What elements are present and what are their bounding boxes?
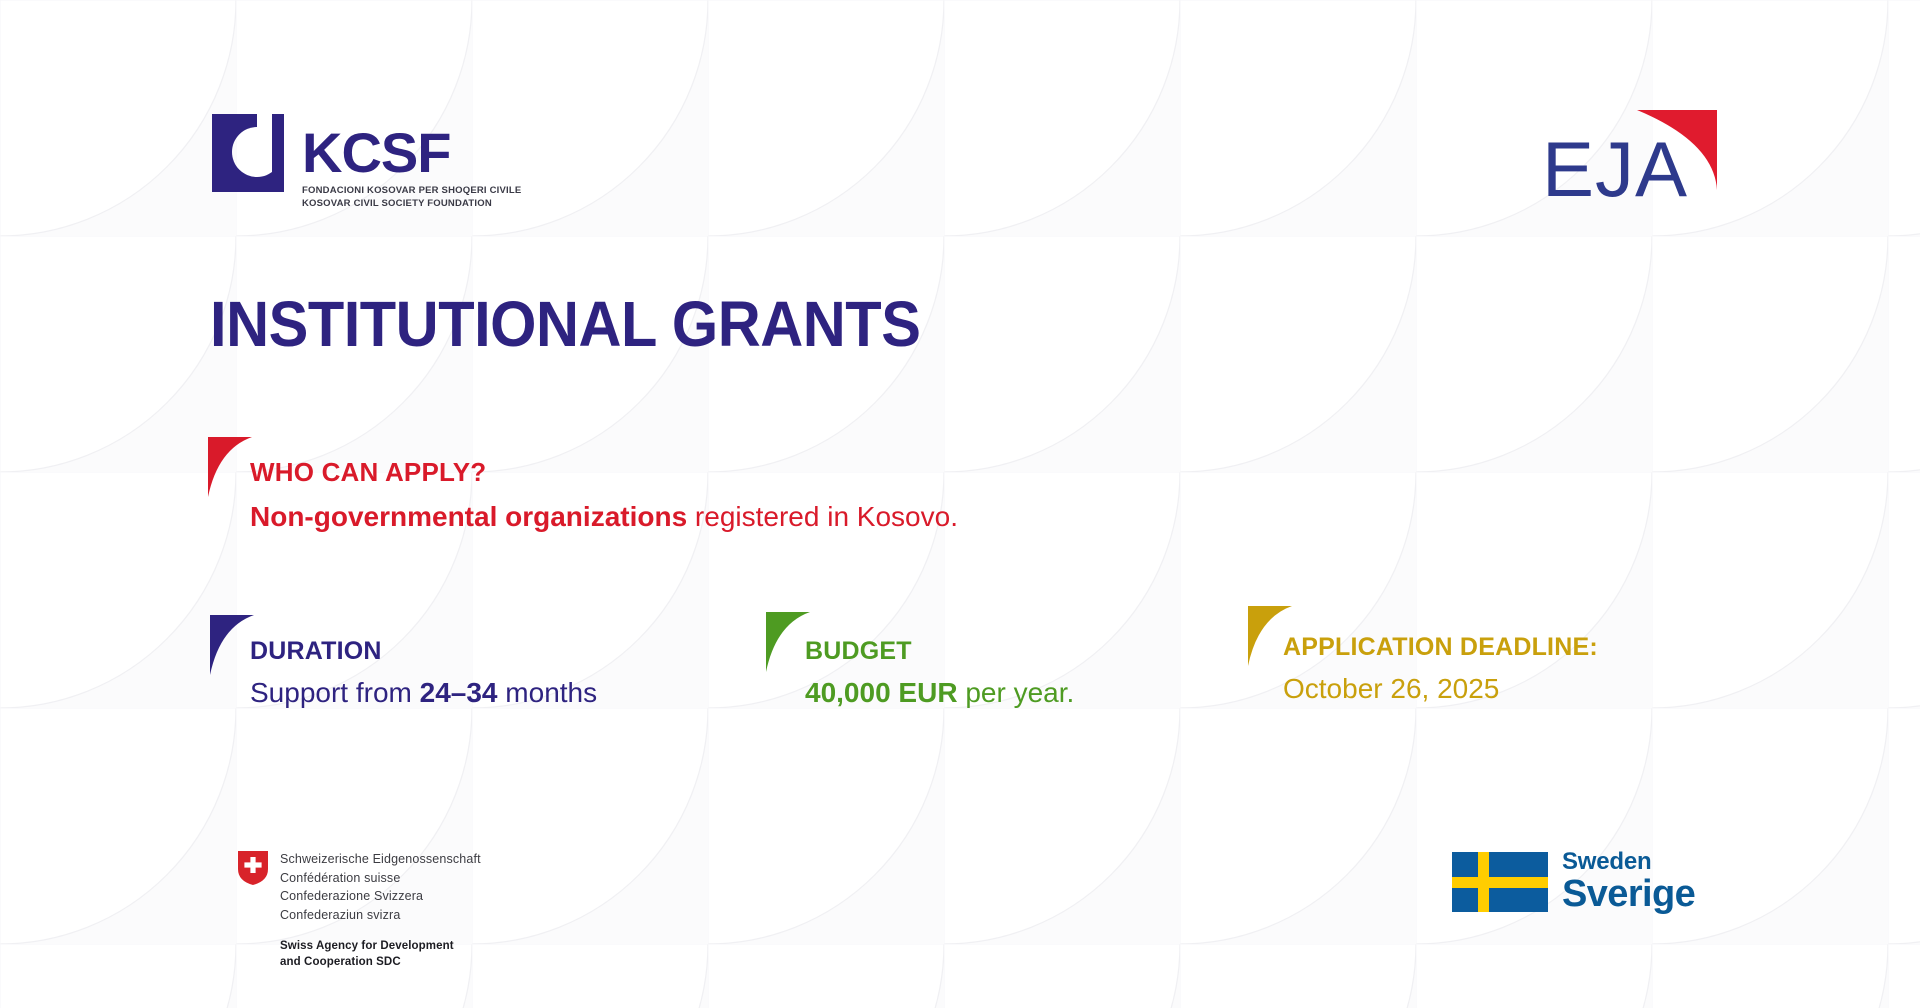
budget-body: 40,000 EUR per year. xyxy=(805,676,1074,710)
swiss-lang-fr: Confédération suisse xyxy=(280,869,481,888)
kcsf-subtitle-line2: KOSOVAR CIVIL SOCIETY FOUNDATION xyxy=(302,198,521,211)
kcsf-subtitle-line1: FONDACIONI KOSOVAR PER SHOQERI CIVILE xyxy=(302,185,521,198)
deadline-heading: APPLICATION DEADLINE: xyxy=(1283,633,1598,662)
budget-heading: BUDGET xyxy=(805,637,1074,666)
who-can-apply-marker-icon xyxy=(208,437,252,497)
who-can-apply-body-bold: Non-governmental organizations xyxy=(250,501,687,532)
page-title: INSTITUTIONAL GRANTS xyxy=(210,292,920,356)
sweden-logo: Sweden Sverige xyxy=(1452,849,1695,915)
who-can-apply-block: WHO CAN APPLY? Non-governmental organiza… xyxy=(250,458,958,533)
who-can-apply-body: Non-governmental organizations registere… xyxy=(250,500,958,534)
swiss-cross-shield-icon xyxy=(238,851,268,885)
kcsf-wordmark: KCSF xyxy=(302,126,521,179)
eja-logo: EJA xyxy=(1542,110,1717,208)
sweden-name-en: Sweden xyxy=(1562,849,1695,874)
budget-marker-icon xyxy=(766,612,810,672)
swiss-agency-line1: Swiss Agency for Development xyxy=(280,938,481,954)
who-can-apply-body-rest: registered in Kosovo. xyxy=(687,501,958,532)
duration-body-prefix: Support from xyxy=(250,677,420,708)
kcsf-circle-square-icon xyxy=(212,114,296,198)
duration-heading: DURATION xyxy=(250,637,597,666)
info-column-duration: DURATION Support from 24–34 months xyxy=(250,637,597,709)
swiss-sdc-logo: Schweizerische Eidgenossenschaft Confédé… xyxy=(238,850,481,971)
who-can-apply-heading: WHO CAN APPLY? xyxy=(250,458,958,488)
sweden-name-sv: Sverige xyxy=(1562,875,1695,915)
swiss-lang-rm: Confederaziun svizra xyxy=(280,906,481,925)
duration-body: Support from 24–34 months xyxy=(250,676,597,710)
deadline-body: October 26, 2025 xyxy=(1283,672,1598,706)
poster-canvas: KCSF FONDACIONI KOSOVAR PER SHOQERI CIVI… xyxy=(0,0,1920,1008)
swiss-agency-line2: and Cooperation SDC xyxy=(280,954,481,970)
budget-body-suffix: per year. xyxy=(958,677,1075,708)
duration-body-suffix: months xyxy=(498,677,598,708)
kcsf-logo: KCSF FONDACIONI KOSOVAR PER SHOQERI CIVI… xyxy=(212,112,521,211)
info-column-budget: BUDGET 40,000 EUR per year. xyxy=(805,637,1074,709)
budget-body-bold: 40,000 EUR xyxy=(805,677,958,708)
swiss-lang-it: Confederazione Svizzera xyxy=(280,887,481,906)
sweden-flag-icon xyxy=(1452,852,1548,912)
duration-marker-icon xyxy=(210,615,254,675)
eja-wordmark: EJA xyxy=(1542,125,1688,208)
duration-body-bold: 24–34 xyxy=(420,677,498,708)
info-column-deadline: APPLICATION DEADLINE: October 26, 2025 xyxy=(1283,633,1598,705)
deadline-body-prefix: October 26, 2025 xyxy=(1283,673,1499,704)
swiss-lang-de: Schweizerische Eidgenossenschaft xyxy=(280,850,481,869)
